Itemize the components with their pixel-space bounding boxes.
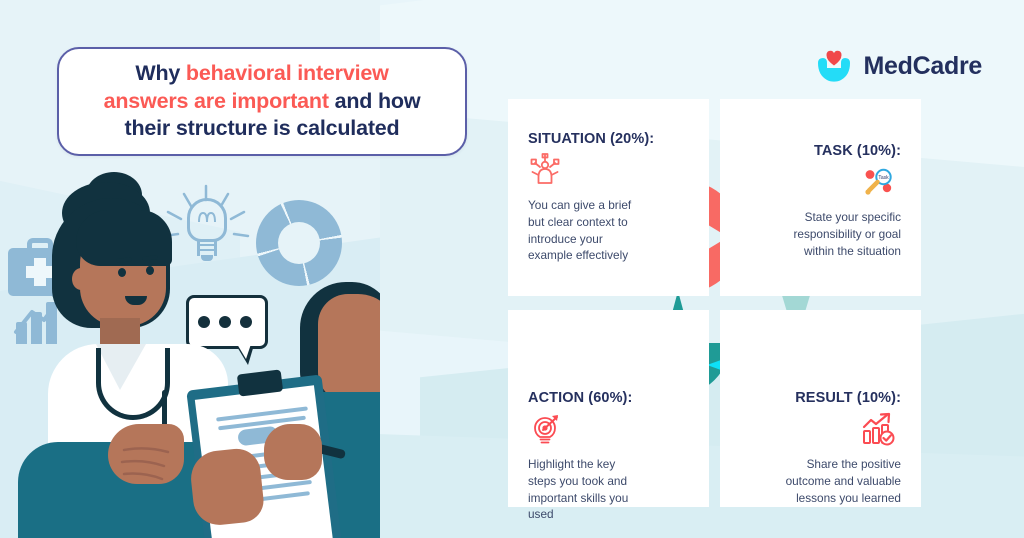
medical-cross-horizontal	[26, 266, 54, 278]
speech-bubble-tail-fill	[237, 344, 251, 359]
title-segment-1: Why	[135, 61, 186, 85]
donut-chart-icon	[256, 200, 342, 286]
card-result[interactable]: RESULT (10%): Share the positiv	[720, 310, 921, 507]
card-task-body: State your specific responsibility or go…	[775, 209, 901, 259]
patient-head	[318, 294, 380, 402]
heart-in-hands-icon	[815, 49, 853, 83]
nurse-ear	[72, 268, 90, 290]
patient-hand	[264, 424, 322, 480]
nurse-hand-fingers	[110, 432, 190, 492]
lightbulb-target-arrow-icon	[528, 412, 562, 446]
infographic-stage: Why behavioral interview answers are imp…	[0, 0, 1024, 538]
speech-bubble-dot-2	[219, 316, 231, 328]
title-segment-3: their structure is calculated	[125, 116, 400, 140]
nurse-hand-holding-clipboard	[188, 447, 265, 528]
card-task[interactable]: TASK (10%): Task State your specific	[720, 99, 921, 296]
card-result-body: Share the positive outcome and valuable …	[775, 456, 901, 506]
task-icon-label: Task	[878, 175, 889, 181]
donut-chart-hole	[278, 222, 320, 264]
card-situation-title: SITUATION (20%):	[528, 131, 689, 147]
page-title-card: Why behavioral interview answers are imp…	[57, 47, 467, 156]
card-action-title: ACTION (60%):	[528, 390, 689, 406]
title-highlight-2: answers are important	[104, 89, 329, 113]
nurse-eye-right	[146, 266, 154, 275]
person-with-arrows-icon	[528, 153, 562, 187]
card-action-body: Highlight the key steps you took and imp…	[528, 456, 646, 523]
nurse-eye-left	[118, 268, 126, 277]
card-result-title: RESULT (10%):	[740, 390, 901, 406]
card-action[interactable]: ACTION (60%): Highlight the key steps yo…	[508, 310, 709, 507]
speech-bubble-dot-1	[198, 316, 210, 328]
title-segment-2: and how	[329, 89, 421, 113]
brand-logo[interactable]: MedCadre	[815, 49, 982, 83]
magnifier-gears-task-icon: Task	[861, 165, 895, 199]
brand-name: MedCadre	[864, 52, 982, 81]
bar-chart-growth-icon	[861, 412, 895, 446]
card-situation-body: You can give a brief but clear context t…	[528, 197, 646, 264]
page-title: Why behavioral interview answers are imp…	[92, 60, 433, 143]
stethoscope-tubing	[96, 348, 170, 420]
card-situation[interactable]: SITUATION (20%):	[508, 99, 709, 296]
card-task-title: TASK (10%):	[740, 143, 901, 159]
speech-bubble-dot-3	[240, 316, 252, 328]
title-highlight-1: behavioral interview	[186, 61, 389, 85]
